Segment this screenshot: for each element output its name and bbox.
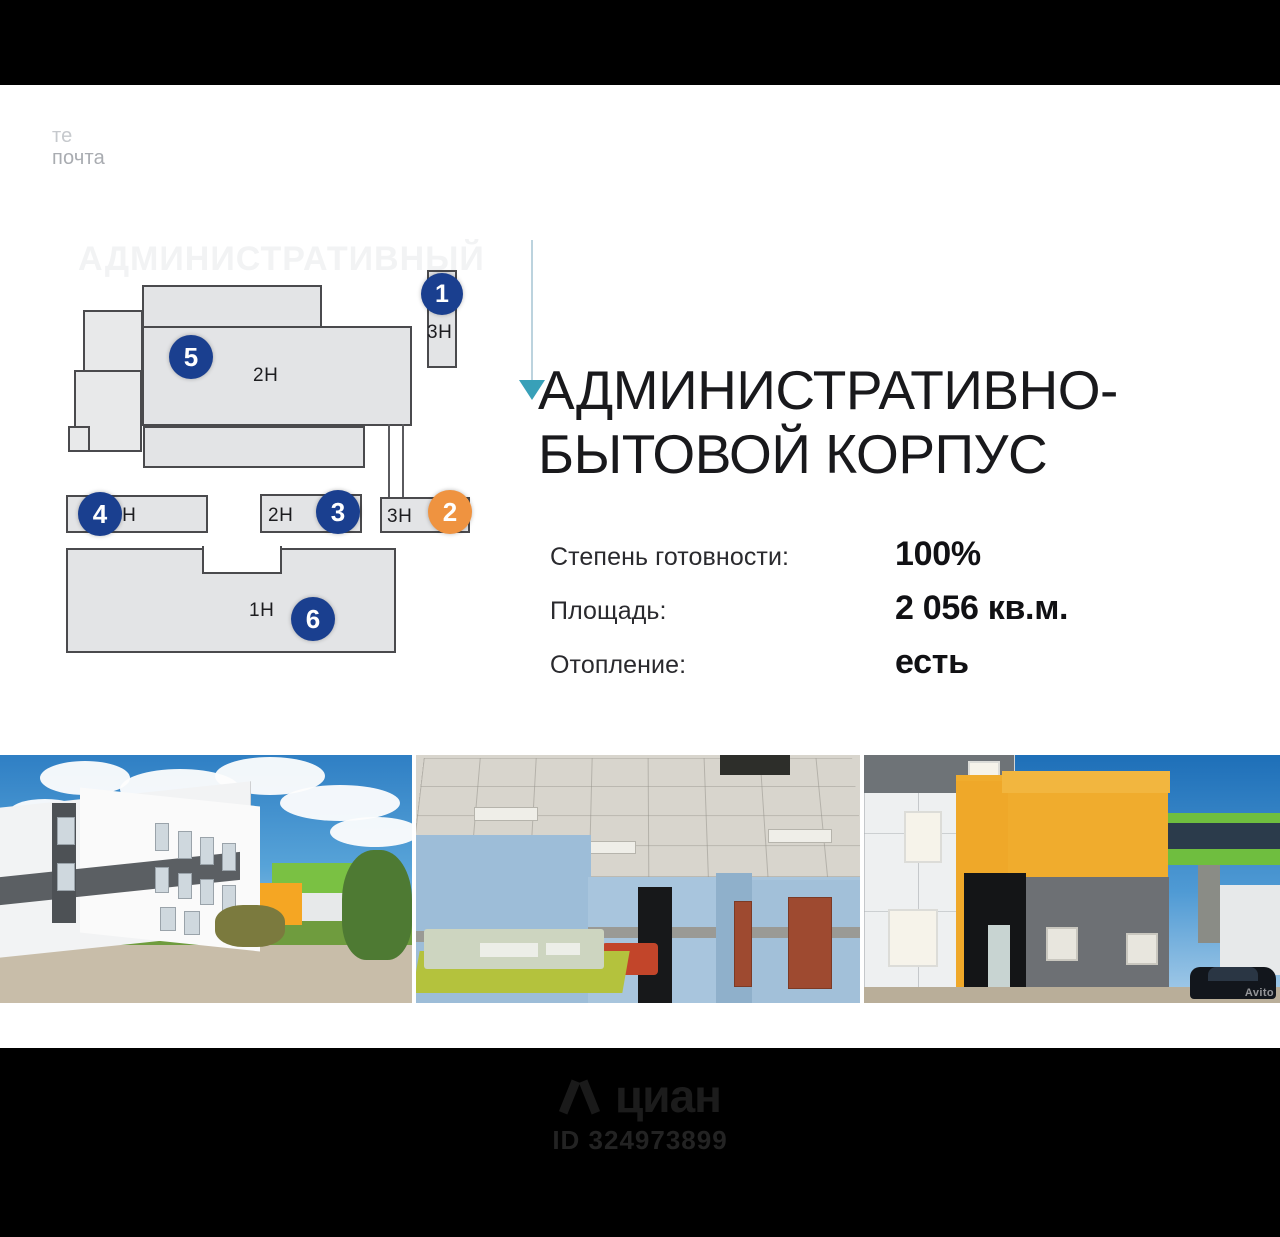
photo2-model-building (546, 943, 580, 955)
avito-watermark: Avito (1245, 987, 1274, 999)
slide-header-text: те почта (52, 120, 105, 174)
photo3-yellow-parapet (1002, 771, 1170, 793)
letterbox-bottom (0, 1048, 1280, 1237)
photo1-window (222, 843, 236, 871)
photo3-far-building (1220, 885, 1280, 975)
photo-strip: Avito (0, 755, 1280, 1003)
cloud-icon (280, 785, 400, 821)
plan-marker-3[interactable]: 3 (316, 490, 360, 534)
photo1-ground (0, 945, 412, 1003)
photo-interior-hall[interactable] (416, 755, 860, 1003)
spec-row-readiness: Степень готовности: 100% (550, 535, 1210, 589)
photo1-window (160, 907, 176, 931)
plan-block-bottom-wide (143, 426, 365, 468)
plan-marker-6[interactable]: 6 (291, 597, 335, 641)
plan-marker-2[interactable]: 2 (428, 490, 472, 534)
photo1-window (200, 837, 214, 865)
photo2-wooden-door (734, 901, 752, 987)
page-title: АДМИНИСТРАТИВНО-БЫТОВОЙ КОРПУС (538, 358, 1218, 486)
plan-marker-1[interactable]: 1 (421, 273, 463, 315)
plan-block-6-notch (202, 546, 282, 574)
photo1-window (155, 867, 169, 893)
photo-entrance-block[interactable]: Avito (864, 755, 1280, 1003)
plan-block-upper-notch (68, 426, 90, 452)
photo3-window (904, 811, 942, 863)
plan-block-upper-top (83, 310, 143, 372)
plan-label-3h-2: 3Н (387, 506, 412, 528)
photo1-window (178, 831, 192, 859)
plan-connector (388, 424, 404, 498)
photo3-bridge-windows (1164, 823, 1280, 849)
letterbox-top (0, 0, 1280, 85)
specs-list: Степень готовности: 100% Площадь: 2 056 … (550, 535, 1210, 697)
plan-label-2h-3: 2Н (268, 505, 293, 527)
photo-exterior-facade[interactable] (0, 755, 412, 1003)
spec-label-area: Площадь: (550, 597, 895, 626)
photo1-window (178, 873, 192, 899)
slide-card: те почта АДМИНИСТРАТИВНЫЙ 2Н 5 3Н 1 2Н 4… (0, 85, 1280, 1048)
header-line-1: те (52, 120, 105, 142)
plan-label-3h-1: 3Н (427, 322, 452, 344)
photo2-ceiling-lamp (584, 841, 636, 854)
plan-marker-4[interactable]: 4 (78, 492, 122, 536)
photo2-model-building (480, 943, 538, 957)
spec-row-heating: Отопление: есть (550, 643, 1210, 697)
plan-label-2h-main: 2Н (253, 365, 278, 387)
photo1-bush (215, 905, 285, 947)
plan-marker-5[interactable]: 5 (169, 335, 213, 379)
photo3-base-window (1046, 927, 1078, 961)
photo2-ceiling-lamp (768, 829, 832, 843)
cloud-icon (330, 817, 412, 847)
photo2-wooden-door (788, 897, 832, 989)
spec-row-area: Площадь: 2 056 кв.м. (550, 589, 1210, 643)
site-plan-diagram: 2Н 5 3Н 1 2Н 4 2Н 3 3Н 2 1Н 6 (60, 240, 500, 690)
header-line-2: почта (52, 142, 105, 174)
spec-value-heating: есть (895, 643, 969, 682)
photo1-window (57, 817, 75, 845)
spec-label-readiness: Степень готовности: (550, 543, 895, 572)
photo1-window (57, 863, 75, 891)
plan-arrow-line (531, 240, 533, 382)
photo1-window (184, 911, 200, 935)
photo3-bridge-support (1198, 865, 1220, 943)
spec-value-readiness: 100% (895, 535, 981, 574)
photo1-tree (342, 850, 412, 960)
photo3-car-window (1208, 967, 1258, 981)
photo2-ceiling-lamp (474, 807, 538, 821)
spec-label-heating: Отопление: (550, 651, 895, 680)
photo1-window (155, 823, 169, 851)
photo3-window (888, 909, 938, 967)
photo1-window (200, 879, 214, 905)
photo3-base-window (1126, 933, 1158, 965)
plan-block-top-wide (142, 285, 322, 330)
photo2-ceiling-opening (720, 755, 790, 775)
spec-value-area: 2 056 кв.м. (895, 589, 1068, 628)
plan-label-1h-6: 1Н (249, 600, 274, 622)
